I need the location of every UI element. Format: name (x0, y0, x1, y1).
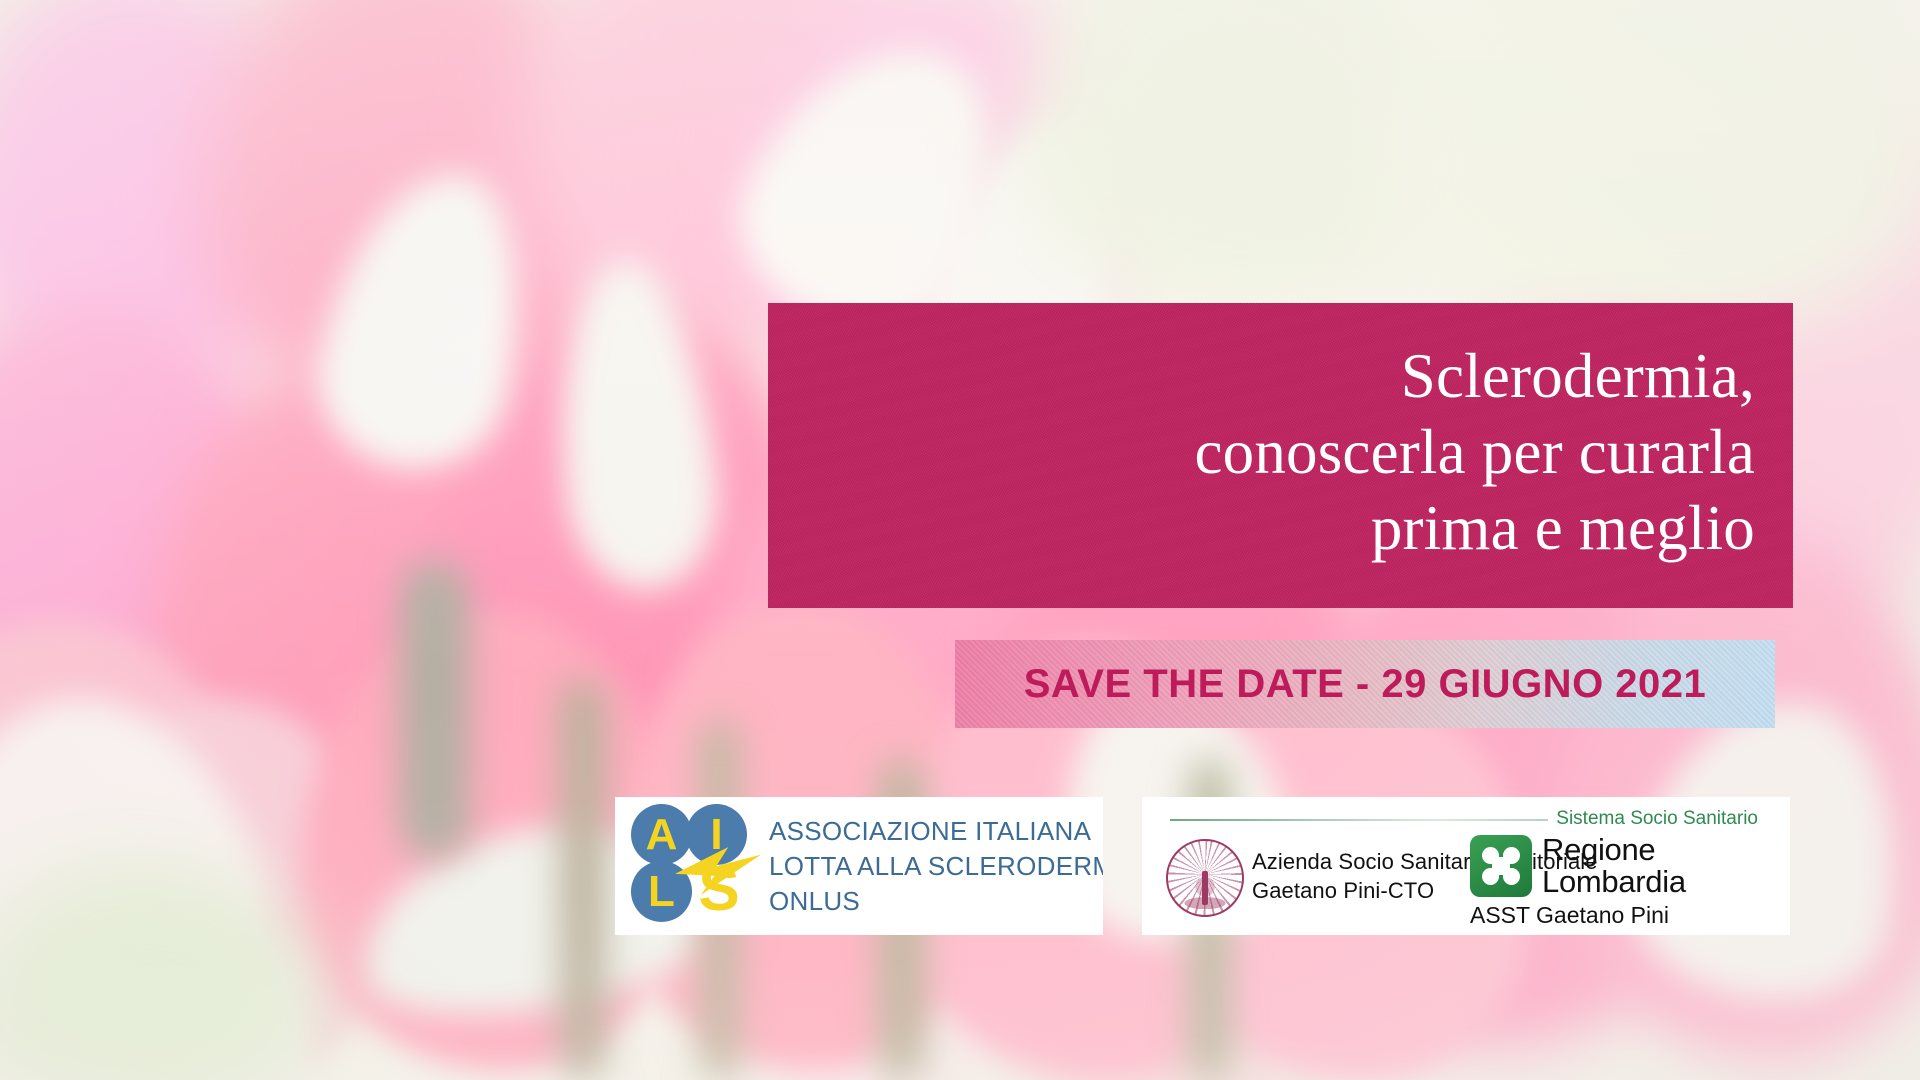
ails-name-line-1: ASSOCIAZIONE ITALIANA (769, 814, 1103, 849)
save-the-date-banner: SAVE THE DATE - 29 GIUGNO 2021 (955, 640, 1775, 728)
ails-name-line-3: ONLUS (769, 884, 1103, 919)
ails-name-block: ASSOCIAZIONE ITALIANA LOTTA ALLA SCLEROD… (757, 814, 1103, 919)
asst-gaetano-pini-label: ASST Gaetano Pini (1470, 901, 1669, 929)
lombardia-rose-icon (1470, 835, 1532, 897)
asst-logo-box: Sistema Socio Sanitario Azienda Socio Sa… (1142, 797, 1790, 935)
regione-label: Regione (1542, 833, 1655, 867)
ails-logo-box: A I L S ASSOCIAZIONE ITALIANA LOTTA ALLA… (615, 797, 1103, 935)
lombardia-label: Lombardia (1542, 865, 1686, 899)
ails-logo-icon: A I L S (629, 803, 757, 929)
title-line-1: Sclerodermia, (1401, 338, 1755, 414)
event-poster: Sclerodermia, conoscerla per curarla pri… (0, 0, 1920, 1080)
regione-lombardia-lockup: Regione Lombardia ASST Gaetano Pini (1470, 835, 1770, 929)
ails-name-line-2: LOTTA ALLA SCLERODERMIA (769, 849, 1103, 884)
sistema-socio-sanitario-label: Sistema Socio Sanitario (1548, 805, 1766, 833)
title-line-2: conoscerla per curarla (1194, 414, 1755, 490)
gaetano-pini-tree-icon (1166, 839, 1244, 917)
title-line-3: prima e meglio (1371, 490, 1755, 566)
title-box: Sclerodermia, conoscerla per curarla pri… (768, 303, 1793, 608)
rose-petal-center (1492, 857, 1510, 875)
rose-petals-shape (1481, 846, 1521, 886)
asst-org-line-2: Gaetano Pini-CTO (1252, 876, 1434, 905)
tree-trunk-shape (1202, 871, 1208, 905)
ails-letter-s: S (681, 851, 757, 929)
save-the-date-text: SAVE THE DATE - 29 GIUGNO 2021 (1024, 662, 1707, 707)
